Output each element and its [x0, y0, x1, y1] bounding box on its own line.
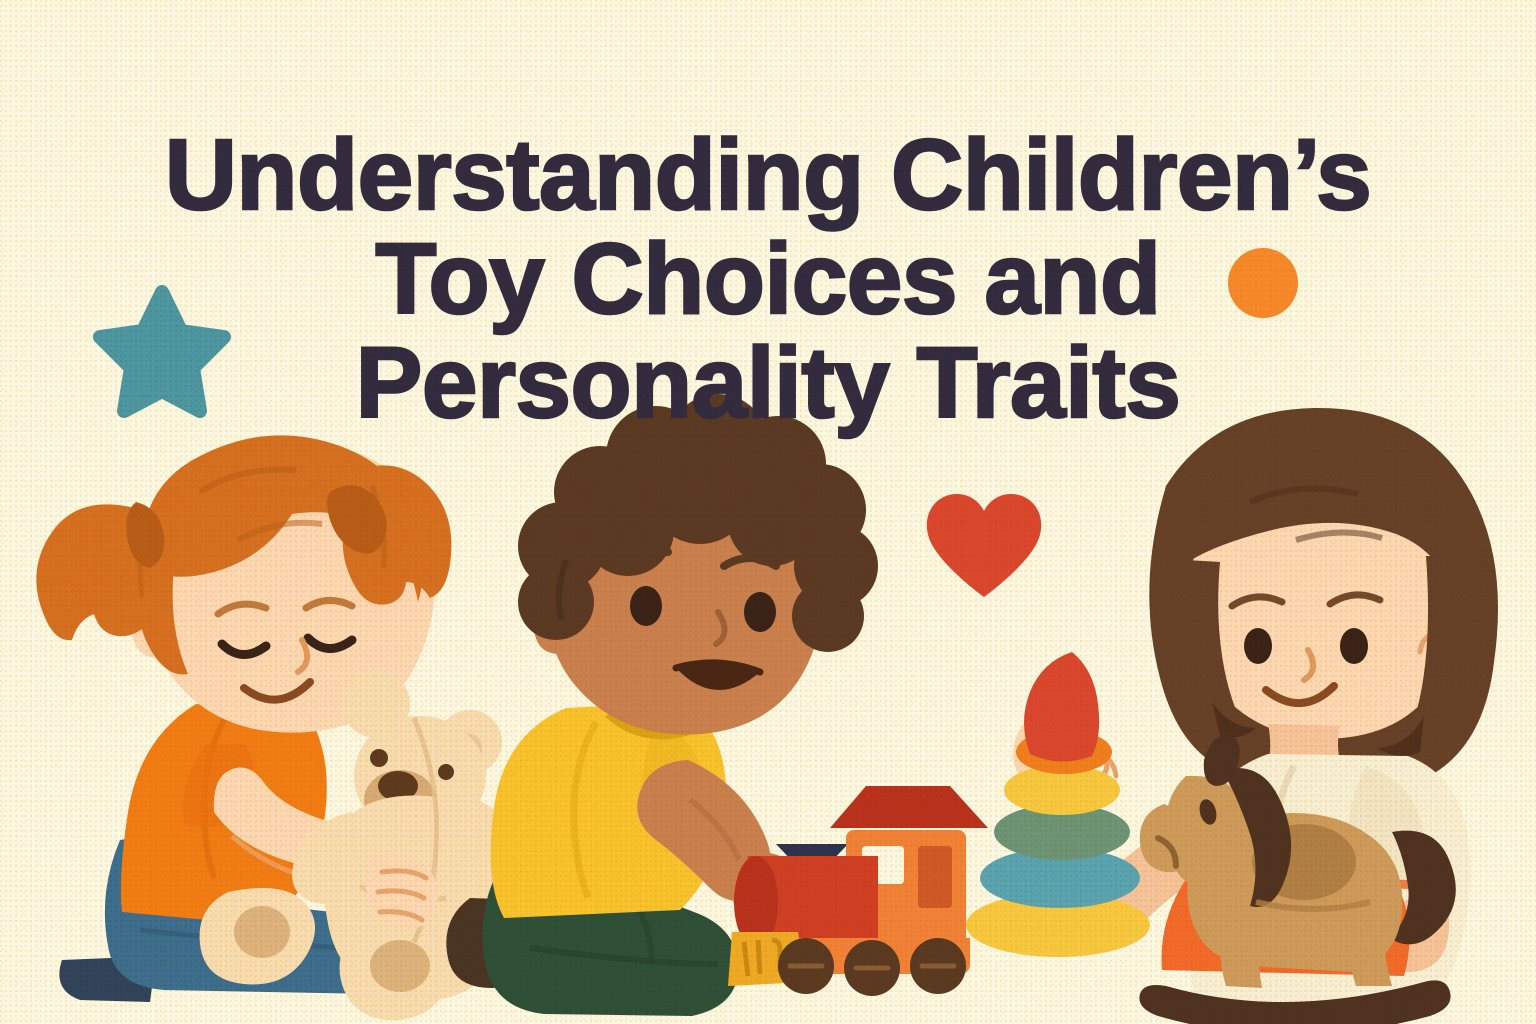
poster-canvas: Understanding Children’s Toy Choices and…: [0, 0, 1536, 1024]
title-line-3: Personality Traits: [80, 331, 1456, 435]
child-girl-with-rings-and-horse: [966, 408, 1498, 1024]
heart-decoration: [927, 494, 1041, 597]
child-boy-with-train: [446, 394, 988, 1016]
toy-train-toy: [728, 786, 988, 996]
title-line-1: Understanding Children’s: [80, 123, 1456, 227]
stacking-rings-toy: [966, 652, 1150, 957]
page-title: Understanding Children’s Toy Choices and…: [0, 123, 1536, 435]
title-line-2: Toy Choices and: [80, 227, 1456, 331]
